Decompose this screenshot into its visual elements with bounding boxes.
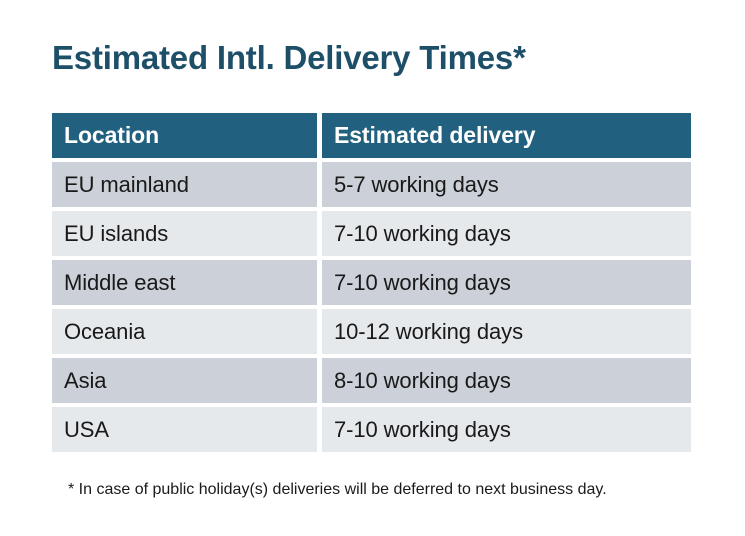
cell-location: Middle east (52, 260, 317, 305)
table-row: EU mainland 5-7 working days (52, 162, 691, 207)
column-header-estimated-delivery: Estimated delivery (322, 113, 691, 158)
table-row: EU islands 7-10 working days (52, 211, 691, 256)
table-row: Middle east 7-10 working days (52, 260, 691, 305)
delivery-times-table: Location Estimated delivery EU mainland … (52, 113, 691, 452)
cell-estimated-delivery: 10-12 working days (322, 309, 691, 354)
delivery-times-page: Estimated Intl. Delivery Times* Location… (0, 0, 745, 536)
page-title: Estimated Intl. Delivery Times* (52, 38, 526, 78)
footnote-text: * In case of public holiday(s) deliverie… (68, 479, 607, 501)
cell-location: EU islands (52, 211, 317, 256)
table-header-row: Location Estimated delivery (52, 113, 691, 158)
cell-estimated-delivery: 7-10 working days (322, 260, 691, 305)
cell-estimated-delivery: 8-10 working days (322, 358, 691, 403)
cell-location: Asia (52, 358, 317, 403)
cell-location: Oceania (52, 309, 317, 354)
column-header-location: Location (52, 113, 317, 158)
cell-estimated-delivery: 7-10 working days (322, 407, 691, 452)
table-row: Asia 8-10 working days (52, 358, 691, 403)
cell-estimated-delivery: 5-7 working days (322, 162, 691, 207)
cell-location: EU mainland (52, 162, 317, 207)
cell-location: USA (52, 407, 317, 452)
table-row: Oceania 10-12 working days (52, 309, 691, 354)
cell-estimated-delivery: 7-10 working days (322, 211, 691, 256)
table-row: USA 7-10 working days (52, 407, 691, 452)
